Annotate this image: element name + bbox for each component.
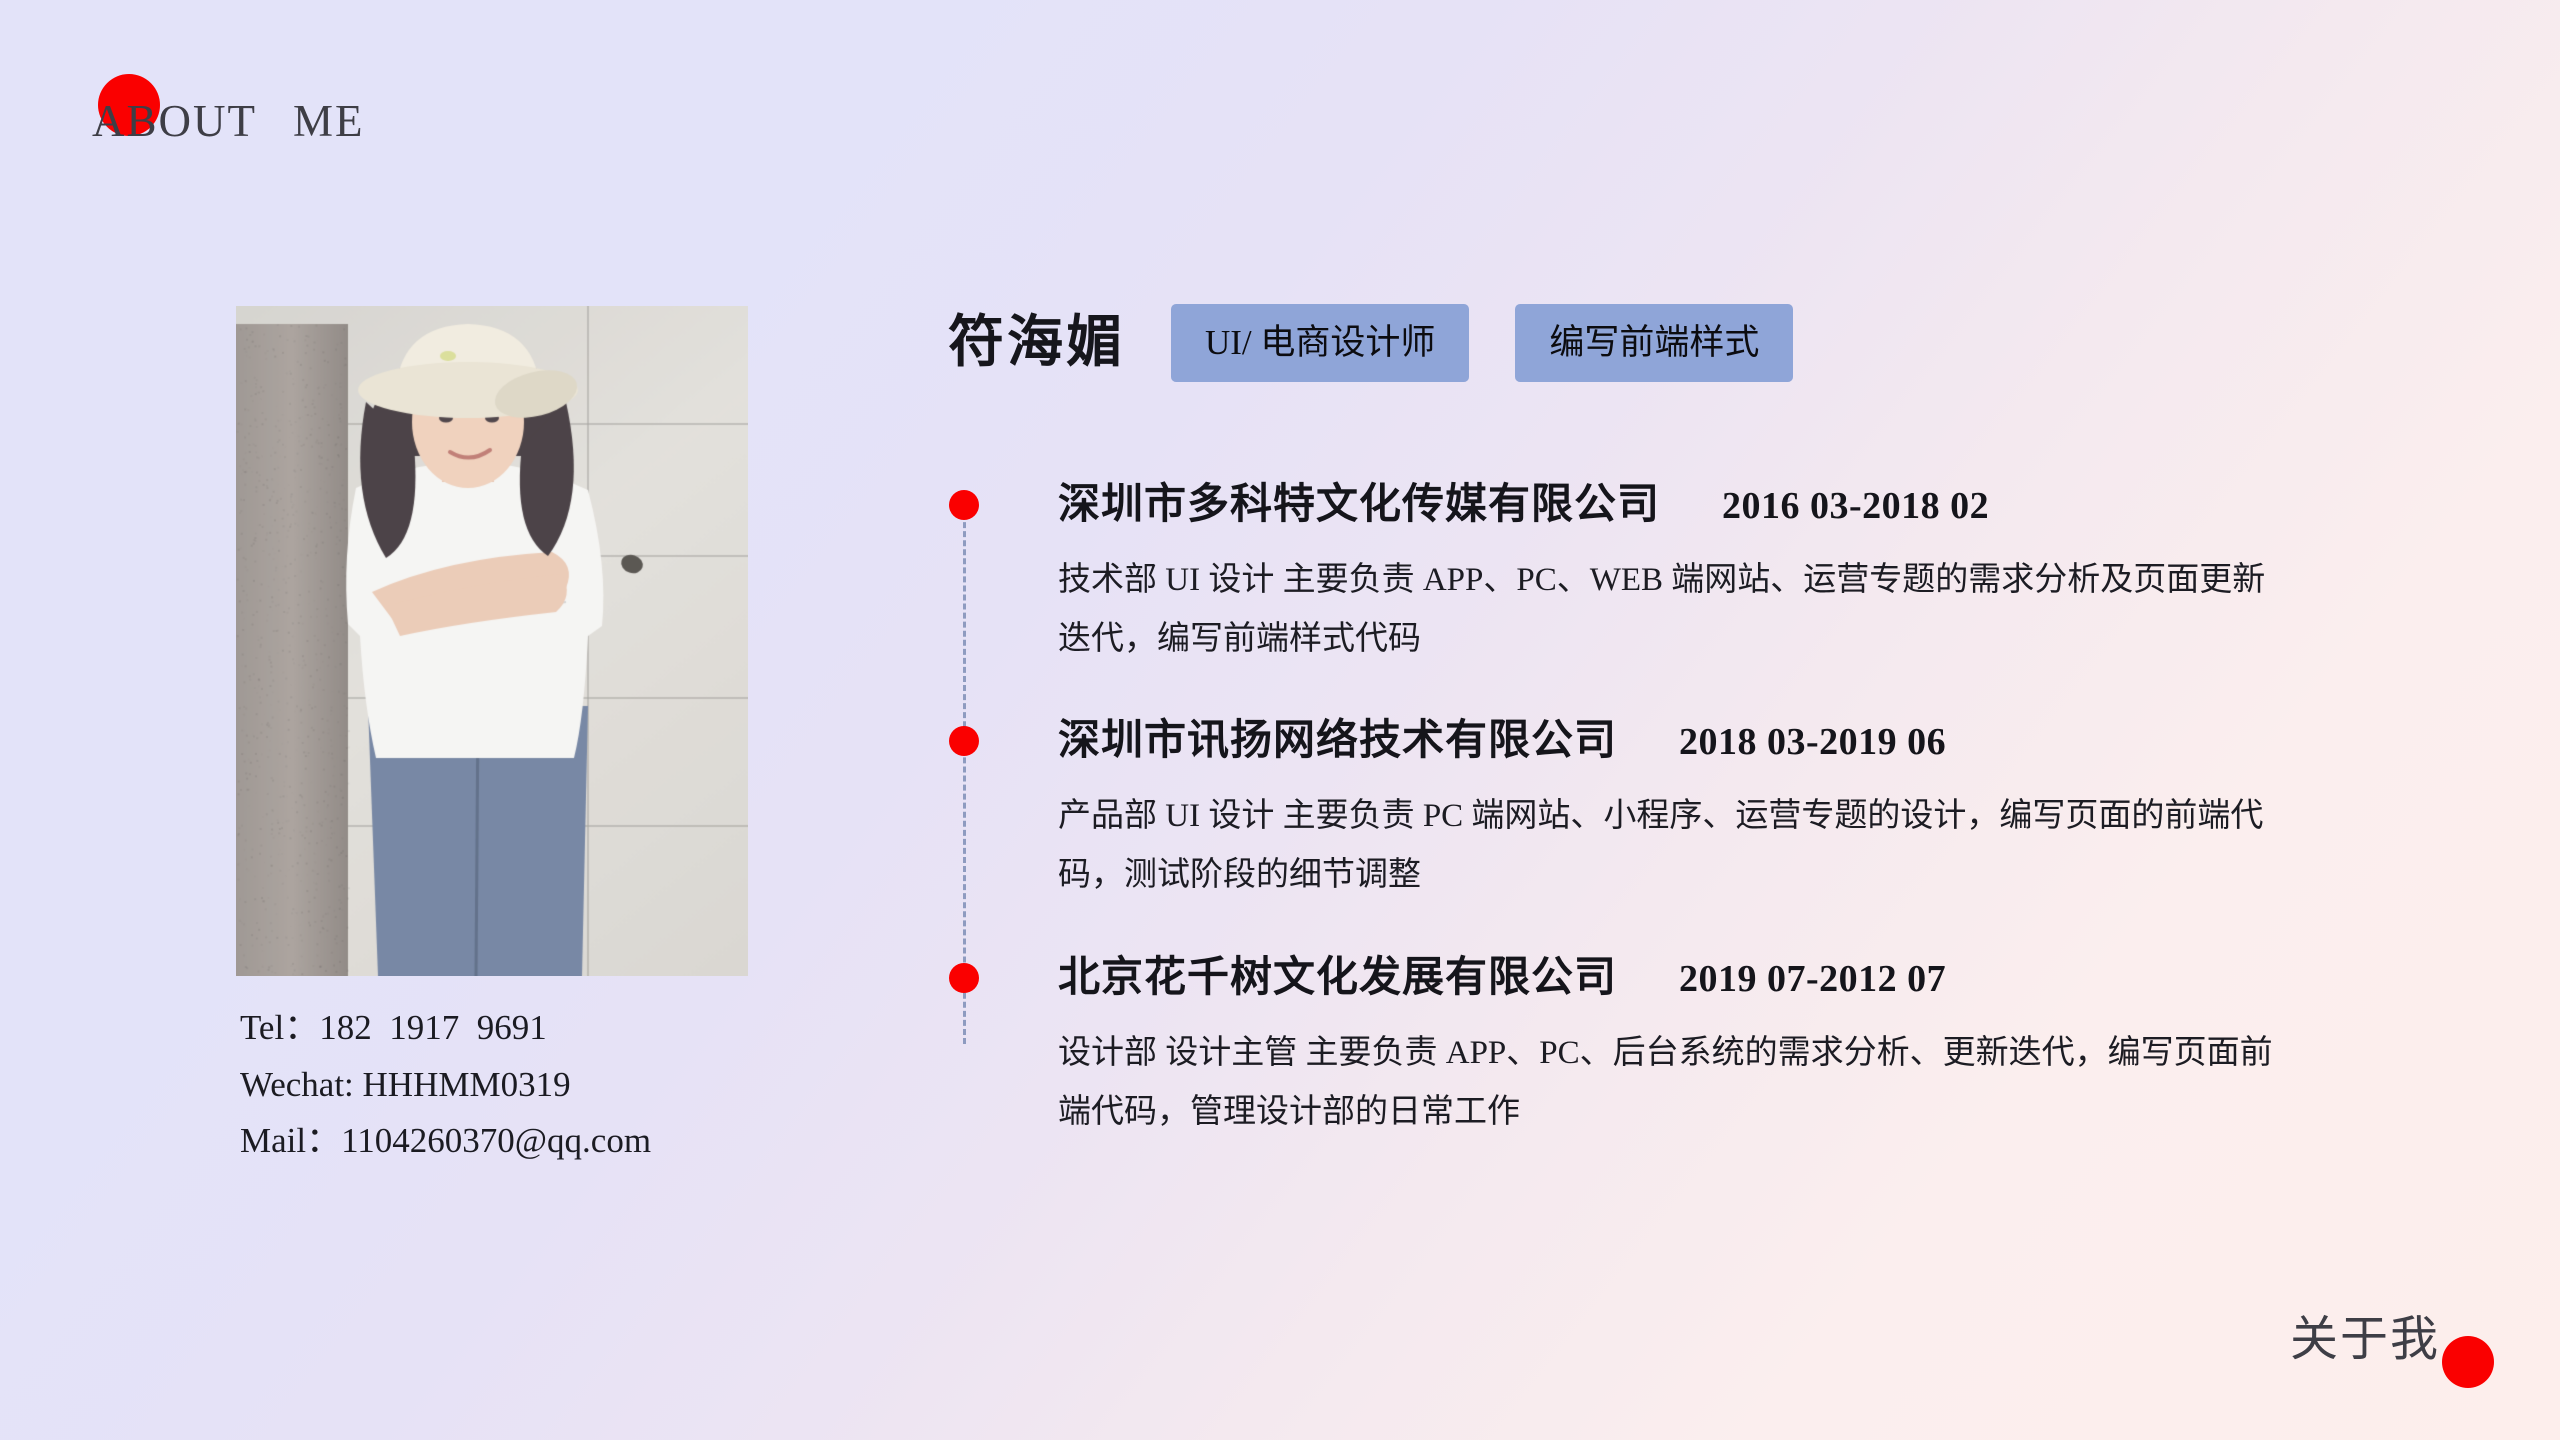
experience-heading: 深圳市讯扬网络技术有限公司 2018 03-2019 06 bbox=[1058, 706, 2448, 767]
experience-item: 北京花千树文化发展有限公司 2019 07-2012 07 设计部 设计主管 主… bbox=[948, 943, 2448, 1141]
page-footer: 关于我 bbox=[2290, 1300, 2440, 1380]
profile-photo bbox=[236, 306, 748, 976]
experience-company: 深圳市讯扬网络技术有限公司 bbox=[1058, 706, 1617, 767]
contact-mail: Mail：1104260370@qq.com bbox=[240, 1113, 860, 1170]
page-header: About Me bbox=[92, 72, 365, 158]
experience-description: 技术部 UI 设计 主要负责 APP、PC、WEB 端网站、运营专题的需求分析及… bbox=[1058, 551, 2288, 668]
contact-wechat: Wechat: HHHMM0319 bbox=[240, 1057, 860, 1114]
experience-period: 2018 03-2019 06 bbox=[1679, 720, 1946, 764]
experience-item: 深圳市多科特文化传媒有限公司 2016 03-2018 02 技术部 UI 设计… bbox=[948, 470, 2448, 668]
contact-info: Tel：182 1917 9691 Wechat: HHHMM0319 Mail… bbox=[240, 1000, 860, 1170]
experience-company: 北京花千树文化发展有限公司 bbox=[1058, 943, 1617, 1004]
experience-heading: 北京花千树文化发展有限公司 2019 07-2012 07 bbox=[1058, 943, 2448, 1004]
profile-name-row: 符海媚 UI/ 电商设计师 编写前端样式 bbox=[948, 300, 1793, 386]
page-title: About Me bbox=[92, 72, 365, 158]
contact-tel: Tel：182 1917 9691 bbox=[240, 1000, 860, 1057]
experience-description: 设计部 设计主管 主要负责 APP、PC、后台系统的需求分析、更新迭代，编写页面… bbox=[1058, 1024, 2288, 1141]
about-me-slide: About Me Tel：182 1917 9691 Wechat: HHHMM… bbox=[0, 0, 2560, 1440]
experience-period: 2019 07-2012 07 bbox=[1679, 957, 1946, 1001]
timeline-bullet-icon bbox=[949, 963, 979, 993]
timeline-bullet-icon bbox=[949, 490, 979, 520]
timeline-bullet-icon bbox=[949, 726, 979, 756]
experience-description: 产品部 UI 设计 主要负责 PC 端网站、小程序、运营专题的设计，编写页面的前… bbox=[1058, 787, 2288, 904]
footer-label: 关于我 bbox=[2290, 1300, 2440, 1380]
experience-item: 深圳市讯扬网络技术有限公司 2018 03-2019 06 产品部 UI 设计 … bbox=[948, 706, 2448, 904]
experience-period: 2016 03-2018 02 bbox=[1722, 484, 1989, 528]
footer-accent-dot-icon bbox=[2442, 1336, 2494, 1388]
profile-photo-canvas bbox=[236, 306, 748, 976]
role-tag-primary: UI/ 电商设计师 bbox=[1171, 304, 1469, 382]
experience-timeline: 深圳市多科特文化传媒有限公司 2016 03-2018 02 技术部 UI 设计… bbox=[948, 470, 2448, 1179]
role-tag-secondary: 编写前端样式 bbox=[1515, 304, 1793, 382]
experience-company: 深圳市多科特文化传媒有限公司 bbox=[1058, 470, 1660, 531]
person-name: 符海媚 bbox=[948, 300, 1125, 386]
experience-heading: 深圳市多科特文化传媒有限公司 2016 03-2018 02 bbox=[1058, 470, 2448, 531]
